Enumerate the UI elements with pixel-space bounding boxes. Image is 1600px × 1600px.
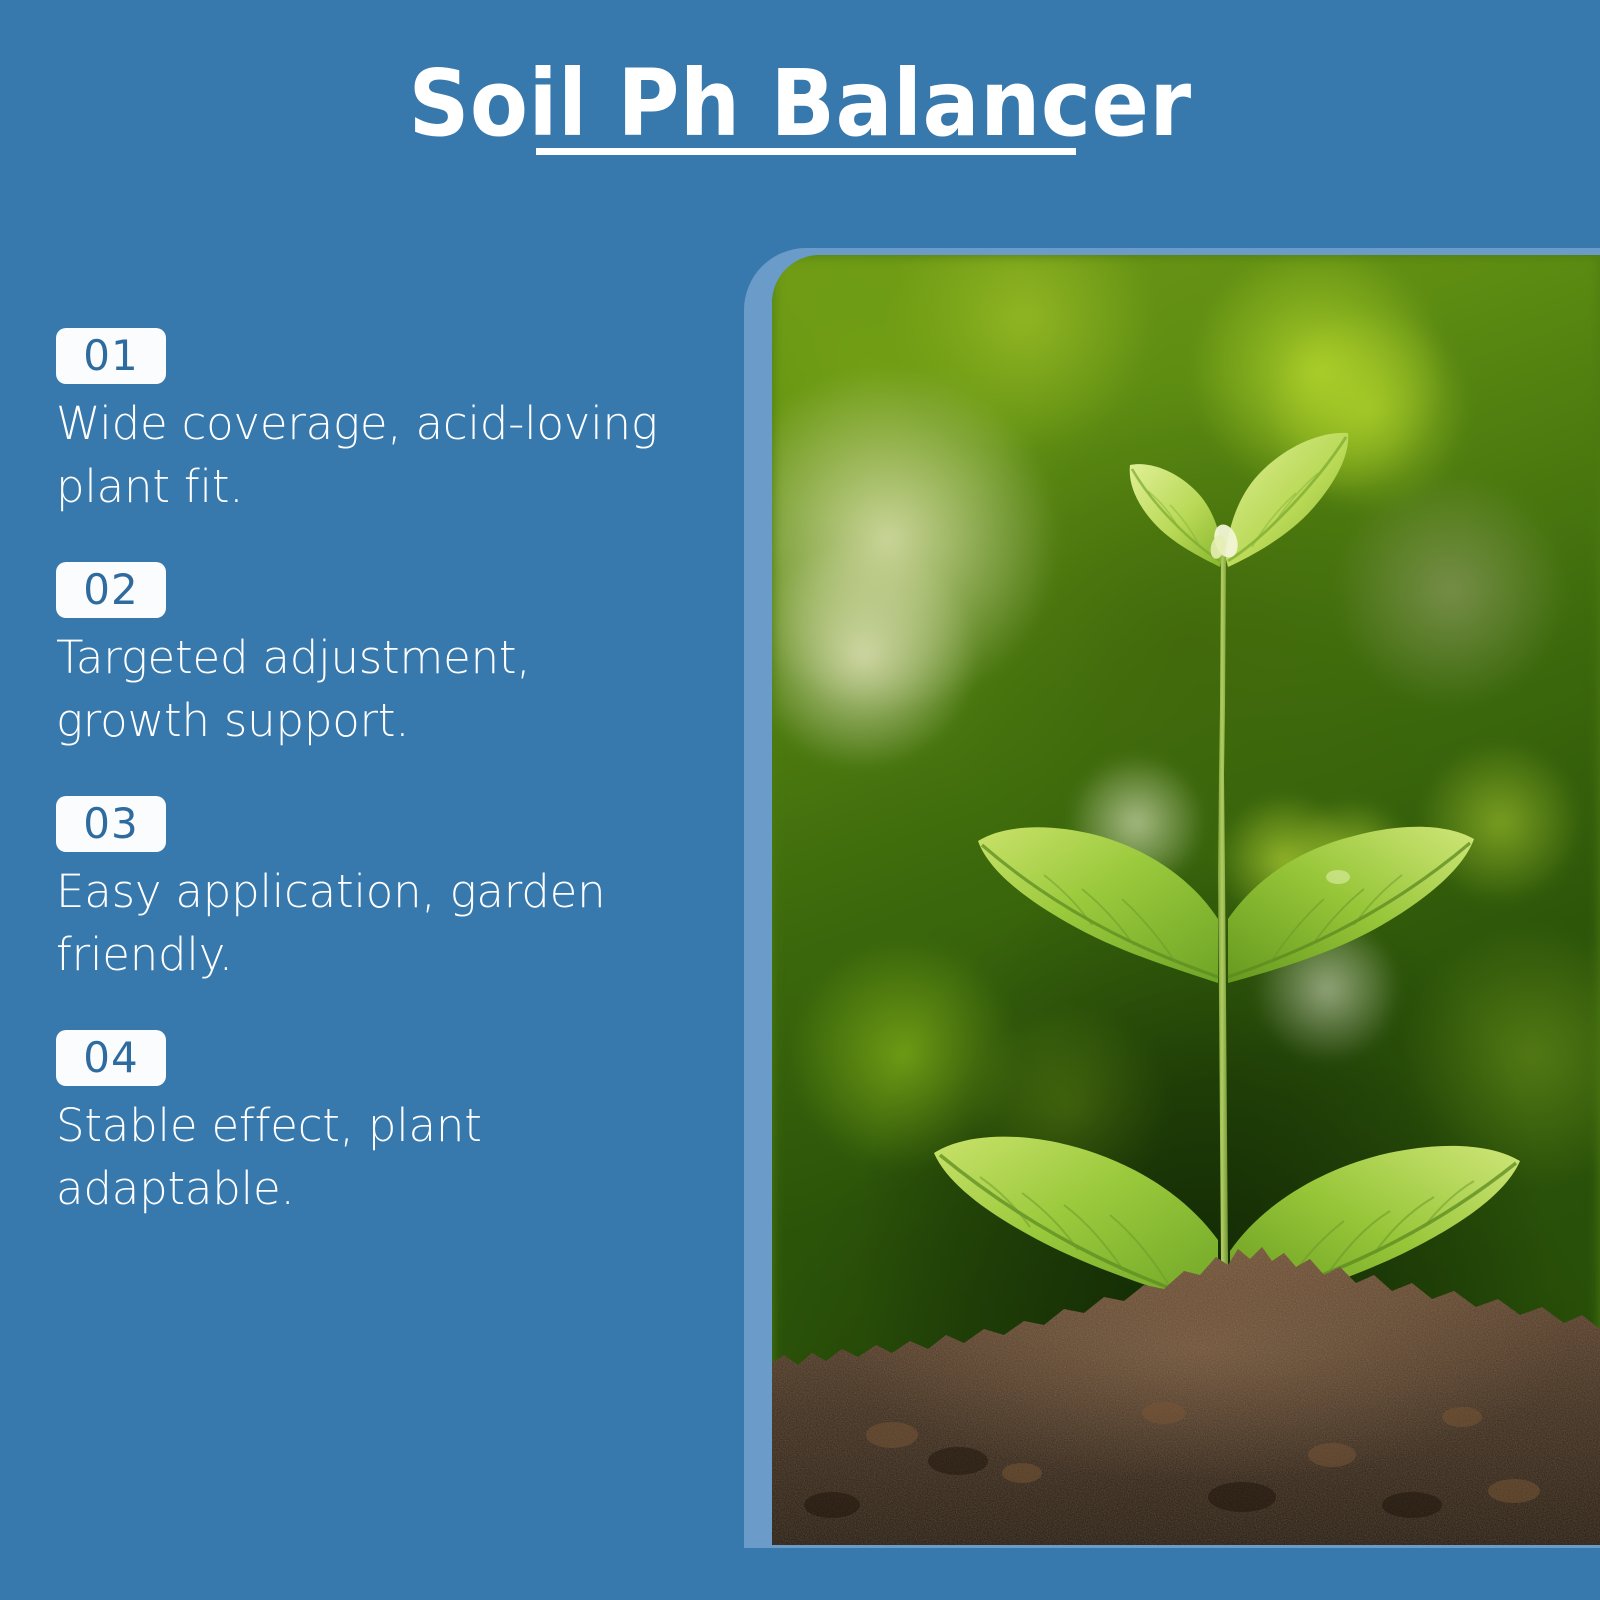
feature-number-badge: 03 <box>56 796 166 852</box>
leaf-top-right <box>1226 433 1348 567</box>
soil-mound-illustration <box>772 1205 1600 1545</box>
list-item: 04 Stable effect, plant adaptable. <box>56 1030 716 1220</box>
poster-canvas: Soil Ph Balancer 01 Wide coverage, acid-… <box>0 0 1600 1600</box>
soil-texture <box>772 1247 1600 1545</box>
sprout-stem <box>1218 555 1228 1315</box>
title-divider <box>536 148 1076 155</box>
leaf-middle-left <box>978 827 1218 983</box>
page-title: Soil Ph Balancer <box>64 58 1536 150</box>
title-block: Soil Ph Balancer <box>0 58 1600 150</box>
leaf-middle-right <box>1228 827 1474 983</box>
feature-number-badge: 01 <box>56 328 166 384</box>
feature-description: Stable effect, plant adaptable. <box>56 1094 696 1220</box>
feature-description: Easy application, garden friendly. <box>56 860 696 986</box>
feature-list: 01 Wide coverage, acid-loving plant fit.… <box>56 328 716 1264</box>
list-item: 02 Targeted adjustment, growth support. <box>56 562 716 752</box>
list-item: 01 Wide coverage, acid-loving plant fit. <box>56 328 716 518</box>
feature-description: Targeted adjustment, growth support. <box>56 626 696 752</box>
feature-number-badge: 02 <box>56 562 166 618</box>
feature-number-badge: 04 <box>56 1030 166 1086</box>
feature-description: Wide coverage, acid-loving plant fit. <box>56 392 696 518</box>
list-item: 03 Easy application, garden friendly. <box>56 796 716 986</box>
product-photo <box>772 255 1600 1545</box>
leaf-top-left <box>1130 464 1222 567</box>
